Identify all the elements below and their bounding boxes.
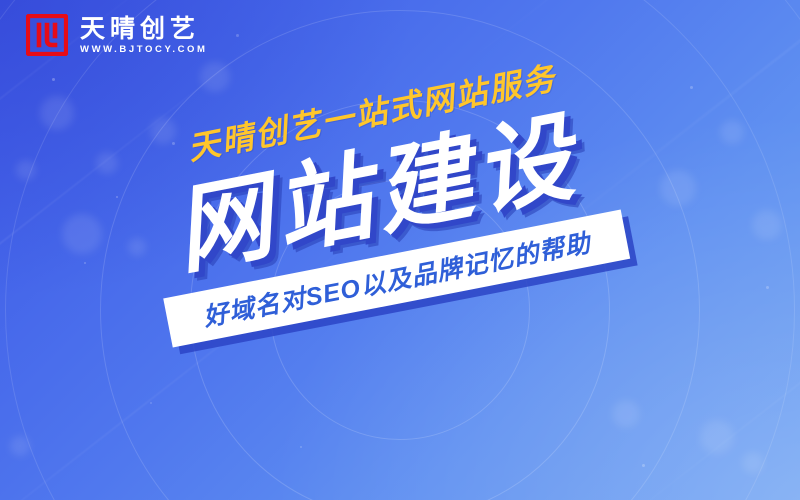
site-logo[interactable]: 天晴创艺 WWW.BJTOCY.COM bbox=[26, 14, 208, 56]
logo-website-url: WWW.BJTOCY.COM bbox=[80, 45, 208, 55]
logo-mark-icon bbox=[26, 14, 68, 56]
poster-text-stack: 天晴创艺一站式网站服务 网站建设 好域名对SEO以及品牌记忆的帮助 bbox=[0, 0, 800, 500]
logo-text-block: 天晴创艺 WWW.BJTOCY.COM bbox=[80, 16, 208, 55]
promo-banner: 天晴创艺 WWW.BJTOCY.COM 天晴创艺一站式网站服务 网站建设 好域名… bbox=[0, 0, 800, 500]
logo-company-name: 天晴创艺 bbox=[80, 16, 208, 42]
